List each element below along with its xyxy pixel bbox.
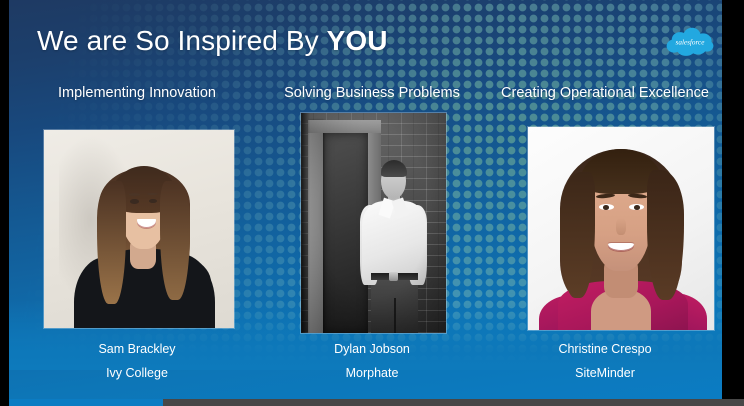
column-heading-label: Creating Operational Excellence: [486, 84, 722, 102]
person-organization-ivy-college: Ivy College: [18, 365, 256, 381]
slide-title-plain: We are So Inspired By: [37, 25, 327, 56]
photo-illustration: [528, 127, 714, 330]
column-heading-label: Solving Business Problems: [253, 84, 491, 102]
column-heading-label: Implementing Innovation: [18, 84, 256, 102]
column-heading-implementing-innovation: Implementing Innovation: [18, 84, 256, 102]
person-name-dylan-jobson: Dylan Jobson: [253, 341, 491, 357]
person-organization-siteminder: SiteMinder: [486, 365, 722, 381]
person-organization-morphate: Morphate: [253, 365, 491, 381]
person-photo-christine-crespo: [528, 127, 714, 330]
salesforce-cloud-icon: salesforce: [664, 26, 716, 58]
player-chrome-bar[interactable]: [163, 399, 744, 406]
slide-title-emphasis: YOU: [327, 25, 388, 56]
person-photo-dylan-jobson: [301, 113, 446, 333]
photo-illustration: [301, 113, 446, 333]
person-photo-sam-brackley: [44, 130, 234, 328]
person-name-sam-brackley: Sam Brackley: [18, 341, 256, 357]
column-heading-solving-business-problems: Solving Business Problems: [253, 84, 491, 102]
column-heading-creating-operational-excellence: Creating Operational Excellence: [486, 84, 722, 102]
slide-canvas: We are So Inspired By YOU salesforce Imp…: [9, 0, 722, 399]
person-name-christine-crespo: Christine Crespo: [486, 341, 722, 357]
salesforce-wordmark: salesforce: [676, 39, 706, 47]
photo-illustration: [44, 130, 234, 328]
presentation-viewer: We are So Inspired By YOU salesforce Imp…: [0, 0, 744, 406]
slide-title: We are So Inspired By YOU: [37, 24, 388, 58]
slide-bottom-edge: [9, 399, 163, 406]
